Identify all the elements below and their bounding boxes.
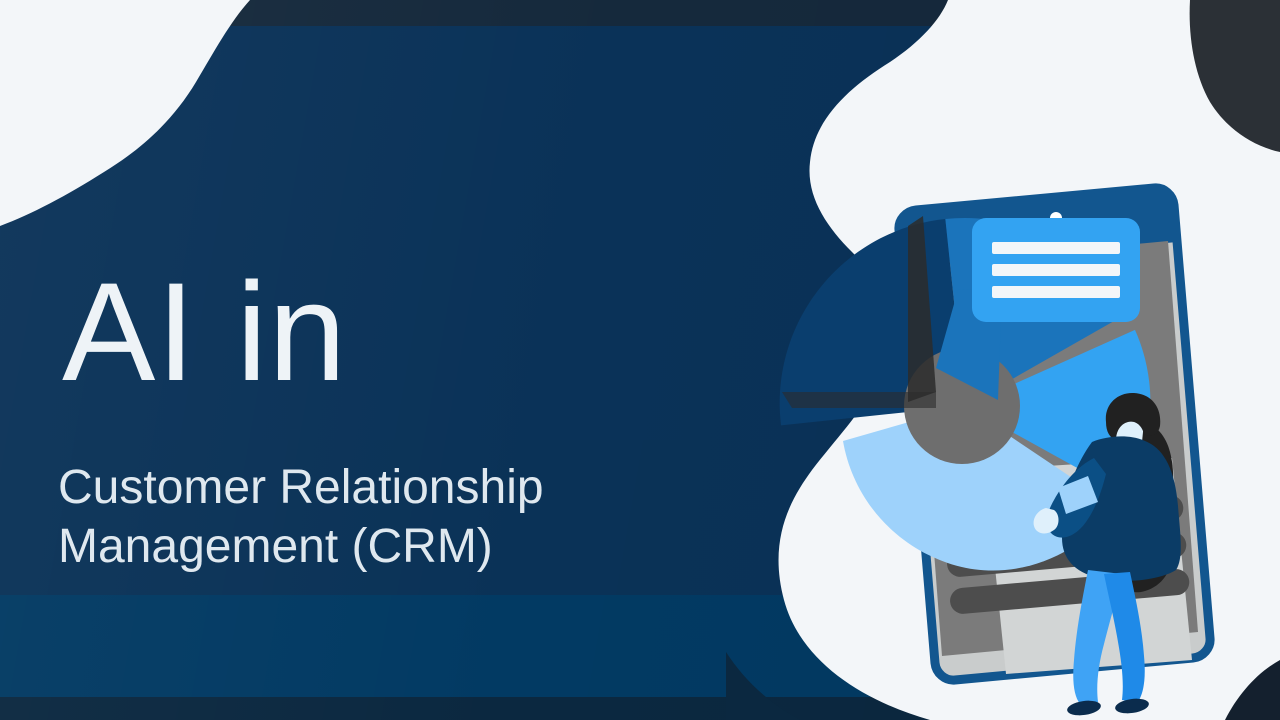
- chat-bubble-line: [992, 286, 1120, 298]
- shoe-right: [1114, 697, 1150, 716]
- crm-illustration: [740, 170, 1240, 720]
- chat-bubble-line: [992, 264, 1120, 276]
- crm-illustration-svg: [740, 170, 1240, 720]
- page-subtitle: Customer Relationship Management (CRM): [58, 458, 738, 576]
- subtitle-block: Customer Relationship Management (CRM): [58, 458, 738, 576]
- presentation-slide: AI in Customer Relationship Management (…: [0, 0, 1280, 720]
- title-block: AI in: [62, 262, 722, 402]
- pie-slice-shadow-base: [782, 392, 936, 408]
- page-title: AI in: [62, 262, 722, 402]
- chat-bubble-line: [992, 242, 1120, 254]
